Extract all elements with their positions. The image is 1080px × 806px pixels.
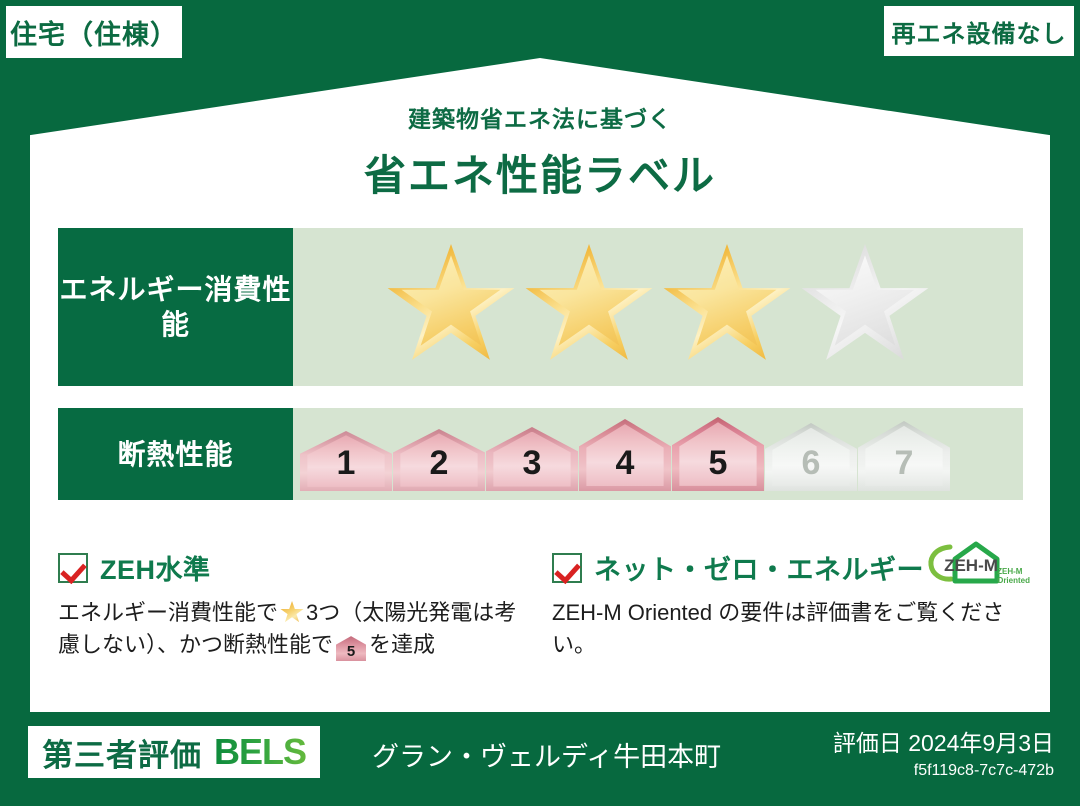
insulation-level-1: 1 (300, 431, 392, 491)
energy-label-card: 住宅（住棟） 再エネ設備なし 建築物省エネ法に基づく 省エネ性能ラベル エネルギ… (0, 0, 1080, 806)
energy-performance-label: エネルギー消費性能 (58, 228, 293, 386)
check-icon-zeh-standard (58, 553, 88, 583)
net-zero-energy-header: ネット・ゼロ・エネルギー ZEH-M ZEH-M Oriented (552, 548, 1032, 587)
insulation-level-3-value: 3 (523, 444, 542, 491)
house-icon-inline: 5 (336, 636, 366, 661)
zeh-m-logo-caption-line1: ZEH-M (997, 567, 1022, 576)
renewable-equipment-badge: 再エネ設備なし (884, 6, 1074, 56)
zeh-m-oriented-logo: ZEH-M ZEH-M Oriented (924, 540, 1028, 588)
evaluation-date: 評価日 2024年9月3日 (833, 724, 1054, 758)
zeh-standard-section: ZEH水準 エネルギー消費性能で3つ（太陽光発電は考慮しない）、かつ断熱性能で5… (58, 548, 528, 661)
energy-performance-row: エネルギー消費性能 (58, 228, 1023, 386)
property-name: グラン・ヴェルディ牛田本町 (372, 735, 721, 774)
insulation-level-5: 5 (672, 417, 764, 491)
building-type-badge-label: 住宅（住棟） (10, 13, 178, 52)
insulation-level-4-value: 4 (616, 444, 635, 491)
star-icon-inline (280, 601, 304, 624)
energy-performance-value (293, 228, 1023, 386)
label-subtitle: 建築物省エネ法に基づく (0, 100, 1080, 134)
insulation-level-1-value: 1 (337, 444, 356, 491)
star-icon-4 (799, 244, 931, 370)
title-block: 建築物省エネ法に基づく 省エネ性能ラベル (0, 100, 1080, 203)
insulation-level-2: 2 (393, 429, 485, 491)
star-icon-3 (661, 244, 793, 370)
zeh-m-logo-caption: ZEH-M Oriented (997, 568, 1030, 586)
zeh-standard-title: ZEH水準 (100, 548, 211, 587)
star-rating-track (385, 244, 931, 370)
star-icon-1 (385, 244, 517, 370)
bels-logo-text: BELS (214, 731, 306, 773)
insulation-level-6: 6 (765, 423, 857, 491)
net-zero-energy-section: ネット・ゼロ・エネルギー ZEH-M ZEH-M Oriented ZEH-M … (552, 548, 1032, 661)
renewable-equipment-badge-label: 再エネ設備なし (892, 14, 1067, 49)
insulation-level-6-value: 6 (802, 444, 821, 491)
insulation-level-track: 1 2 3 4 (300, 417, 950, 491)
insulation-level-7-value: 7 (895, 444, 914, 491)
insulation-level-4: 4 (579, 419, 671, 491)
net-zero-energy-description: ZEH-M Oriented の要件は評価書をご覧ください。 (552, 597, 1032, 661)
insulation-level-2-value: 2 (430, 444, 449, 491)
zeh-standard-desc-part3: を達成 (369, 632, 435, 657)
page-title: 省エネ性能ラベル (0, 142, 1080, 203)
zeh-standard-desc-part1: エネルギー消費性能で (58, 600, 278, 625)
net-zero-energy-title: ネット・ゼロ・エネルギー (594, 548, 924, 587)
zeh-m-logo-caption-line2: Oriented (997, 576, 1030, 585)
evaluation-id: f5f119c8-7c7c-472b (833, 762, 1054, 780)
third-party-label: 第三者評価 (42, 730, 202, 775)
evaluation-meta: 評価日 2024年9月3日 f5f119c8-7c7c-472b (833, 724, 1054, 780)
insulation-performance-row: 断熱性能 1 2 3 (58, 408, 1023, 500)
insulation-level-5-value: 5 (709, 444, 728, 491)
insulation-performance-label: 断熱性能 (58, 408, 293, 500)
check-icon-net-zero-energy (552, 553, 582, 583)
insulation-level-3: 3 (486, 427, 578, 491)
svg-text:ZEH-M: ZEH-M (944, 556, 998, 575)
insulation-performance-value: 1 2 3 4 (293, 408, 1023, 500)
insulation-level-7: 7 (858, 421, 950, 491)
building-type-badge: 住宅（住棟） (6, 6, 182, 58)
zeh-standard-header: ZEH水準 (58, 548, 528, 587)
zeh-standard-description: エネルギー消費性能で3つ（太陽光発電は考慮しない）、かつ断熱性能で5を達成 (58, 597, 528, 661)
star-icon-2 (523, 244, 655, 370)
bels-third-party-badge: 第三者評価 BELS (28, 726, 320, 778)
